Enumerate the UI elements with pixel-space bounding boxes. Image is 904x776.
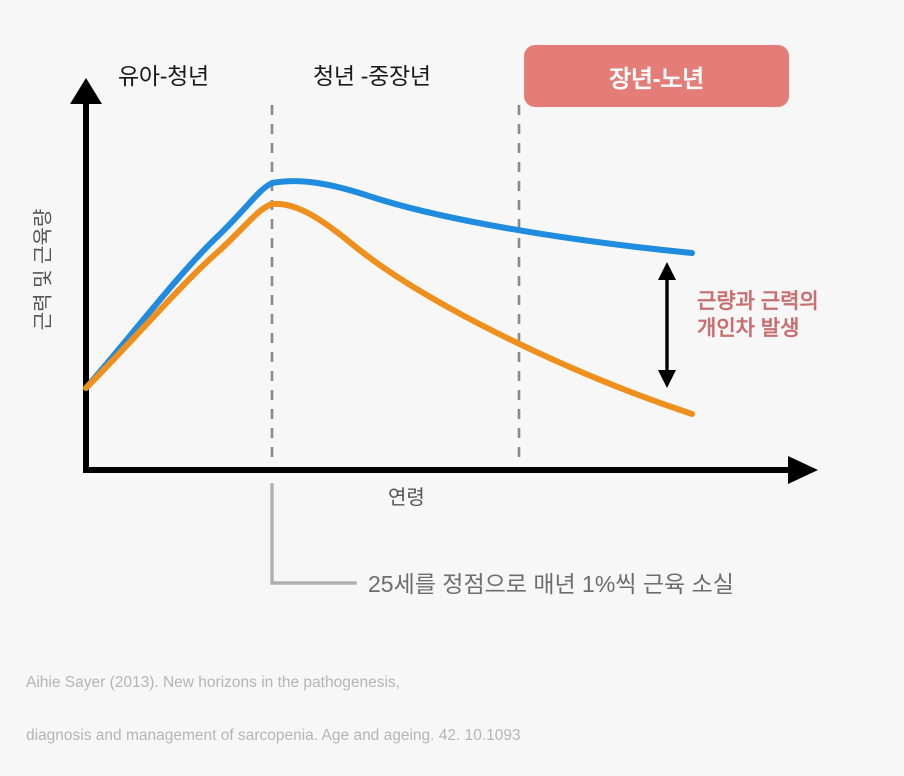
series-line-mass bbox=[86, 204, 692, 414]
individual-variation-annotation: 근량과 근력의 개인차 발생 bbox=[697, 288, 819, 343]
series-line-strength bbox=[86, 181, 692, 388]
citation-line-1: Aihie Sayer (2013). New horizons in the … bbox=[26, 670, 521, 696]
citation-line-2: diagnosis and management of sarcopenia. … bbox=[26, 723, 521, 749]
citation-text: Aihie Sayer (2013). New horizons in the … bbox=[26, 644, 521, 776]
x-axis bbox=[83, 456, 818, 484]
stage-label-infancy-to-youth: 유아-청년 bbox=[118, 57, 209, 91]
individual-variation-annotation-line2: 개인차 발생 bbox=[697, 315, 819, 342]
stage-badge-label: 장년-노년 bbox=[609, 59, 704, 94]
individual-variation-annotation-line1: 근량과 근력의 bbox=[697, 288, 819, 315]
y-axis-title: 근력 및 근육량 bbox=[27, 185, 56, 355]
stage-label-youth-to-middle-age: 청년 -중장년 bbox=[313, 57, 431, 91]
y-axis bbox=[70, 78, 102, 470]
sarcopenia-chart-figure: 유아-청년 청년 -중장년 장년-노년 근력 및 근육량 연령 근량과 근력의 … bbox=[0, 0, 904, 722]
individual-variation-double-arrow bbox=[658, 262, 676, 388]
x-axis-title: 연령 bbox=[388, 481, 425, 510]
peak-callout-leader-line bbox=[272, 485, 355, 583]
chart-canvas bbox=[0, 0, 904, 722]
stage-badge-older-adult-to-elderly: 장년-노년 bbox=[524, 45, 789, 107]
peak-callout-text: 25세를 정점으로 매년 1%씩 근육 소실 bbox=[368, 565, 734, 599]
